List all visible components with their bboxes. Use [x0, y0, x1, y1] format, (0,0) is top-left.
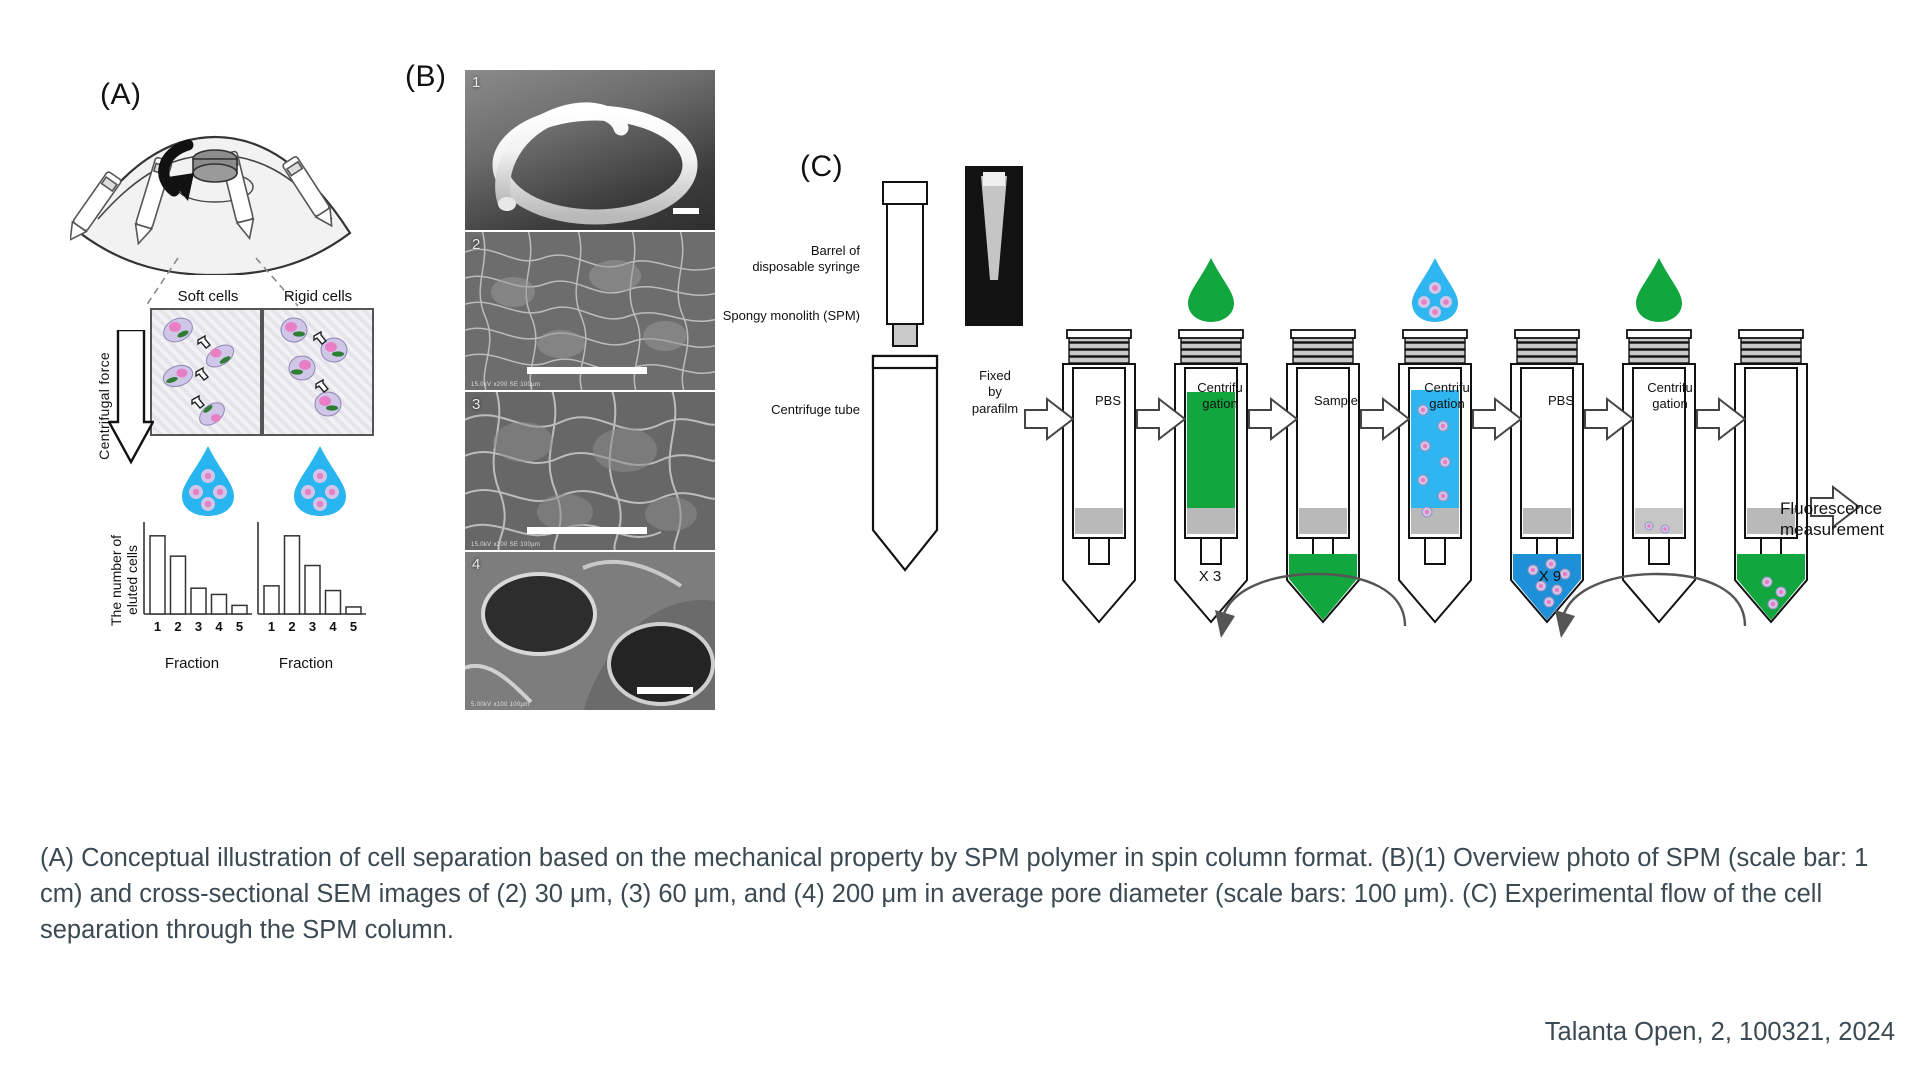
svg-text:5: 5	[350, 619, 357, 634]
chart-x-axis-label-soft: Fraction	[140, 655, 244, 672]
centrifugal-force-label: Centrifugal force	[96, 352, 118, 460]
repeat-x3-label: X 3	[1180, 568, 1240, 587]
panel-c-letter: (C)	[800, 150, 843, 184]
panel-b-image-1-number: 1	[472, 74, 480, 91]
figure-page: (A)	[0, 0, 1920, 1080]
figure-caption: (A) Conceptual illustration of cell sepa…	[40, 840, 1895, 949]
scale-bar-2	[527, 367, 647, 374]
repeat-x9-label: X 9	[1520, 568, 1580, 587]
panel-b-image-4: 4 5.00kV x100 100μm	[465, 552, 715, 710]
panel-b-image-4-sem-text: 5.00kV x100 100μm	[471, 702, 530, 708]
experimental-flow-diagram	[865, 160, 1920, 720]
rigid-cells-box	[262, 308, 374, 436]
panel-b-image-2-sem-text: 15.0kV x200 SE 100μm	[471, 382, 540, 388]
panel-b-image-3-sem-text: 15.0kV x200 SE 100μm	[471, 542, 540, 548]
svg-text:5: 5	[236, 619, 243, 634]
step-label-3: Sample	[1294, 393, 1378, 409]
scale-bar-4	[637, 687, 693, 694]
svg-text:2: 2	[174, 619, 181, 634]
panel-c: (C) Barrel of disposable syringe Spongy …	[760, 150, 1900, 750]
panel-b-image-4-number: 4	[472, 556, 480, 573]
svg-text:4: 4	[329, 619, 337, 634]
chart-y-axis-label: The number ofeluted cells	[108, 520, 140, 640]
panel-b: (B) 1	[465, 60, 725, 700]
svg-text:3: 3	[309, 619, 316, 634]
chart-x-axis-label-rigid: Fraction	[254, 655, 358, 672]
step-label-0: Fixed by parafilm	[956, 368, 1034, 417]
panel-b-letter: (B)	[405, 60, 447, 94]
svg-text:4: 4	[215, 619, 223, 634]
rigid-eluate-drop	[292, 444, 348, 518]
fluorescence-measurement-label: Fluorescence measurement	[1780, 498, 1920, 541]
soft-cells-box	[150, 308, 262, 436]
svg-text:1: 1	[154, 619, 161, 634]
panel-a: (A)	[0, 0, 420, 800]
panel-a-letter: (A)	[100, 78, 142, 112]
step-label-2: Centrifu gation	[1178, 380, 1262, 413]
step-label-6: Centrifu gation	[1628, 380, 1712, 413]
centrifuge-rotor-illustration	[70, 115, 360, 270]
scale-bar-3	[527, 527, 647, 534]
svg-text:1: 1	[268, 619, 275, 634]
eluted-cells-bar-charts: 1234512345	[138, 518, 378, 638]
scale-bar-1	[673, 208, 699, 214]
spongy-monolith-label: Spongy monolith (SPM)	[630, 308, 860, 324]
rigid-cells-label: Rigid cells	[253, 288, 383, 305]
svg-text:2: 2	[288, 619, 295, 634]
barrel-of-syringe-label: Barrel of disposable syringe	[630, 243, 860, 276]
step-label-4: Centrifu gation	[1405, 380, 1489, 413]
panel-b-image-1: 1	[465, 70, 715, 230]
soft-eluate-drop	[180, 444, 236, 518]
figure-credit: Talanta Open, 2, 100321, 2024	[40, 1018, 1895, 1047]
step-label-5: PBS	[1522, 393, 1600, 409]
svg-text:3: 3	[195, 619, 202, 634]
step-label-1: PBS	[1069, 393, 1147, 409]
panel-b-image-3-number: 3	[472, 396, 480, 413]
panel-b-image-2-number: 2	[472, 236, 480, 253]
centrifuge-tube-label: Centrifuge tube	[630, 402, 860, 418]
